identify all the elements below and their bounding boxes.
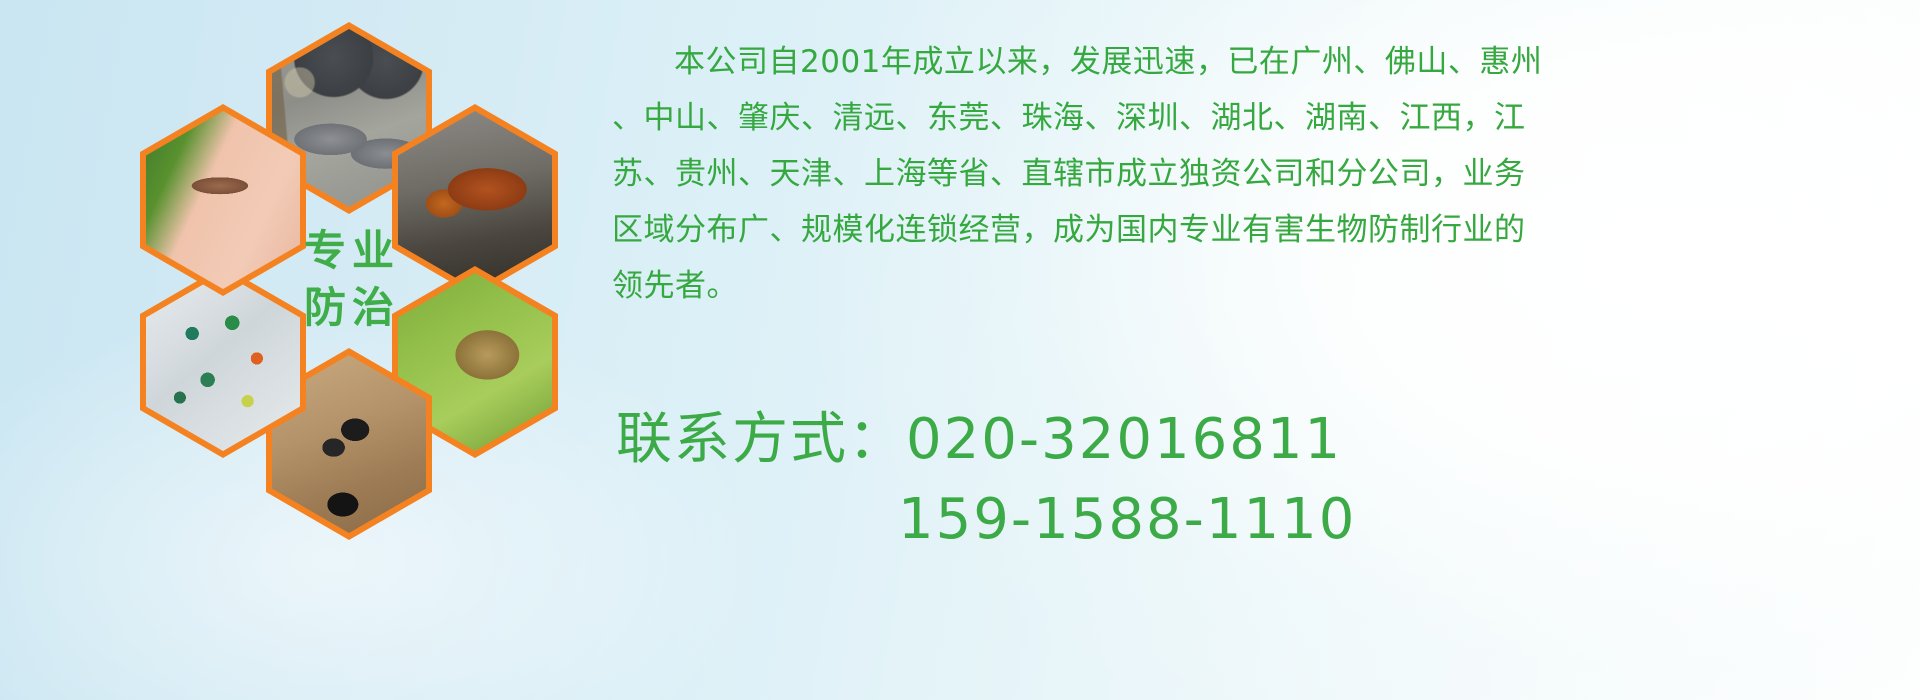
contact-landline-row: 联系方式：020-32016811 [616, 400, 1916, 480]
pest-control-banner: 专业 防治 本公司自2001年成立以来，发展迅速，已在广州、佛山、惠州 、中山、… [0, 0, 1920, 700]
contact-label: 联系方式： [616, 407, 906, 472]
intro-line-3: 苏、贵州、天津、上海等省、直辖市成立独资公司和分公司，业务 [612, 146, 1902, 202]
hex-inner: 专业 防治 [272, 191, 426, 369]
contact-mobile-row: 159-1588-1110 [616, 480, 1916, 560]
contact-block: 联系方式：020-32016811 159-1588-1110 [616, 400, 1916, 560]
intro-line-5: 领先者。 [612, 258, 1902, 314]
intro-paragraph: 本公司自2001年成立以来，发展迅速，已在广州、佛山、惠州 、中山、肇庆、清远、… [612, 34, 1902, 314]
honeycomb-gallery: 专业 防治 [92, 8, 592, 568]
phone-landline[interactable]: 020-32016811 [906, 407, 1342, 472]
intro-line-4: 区域分布广、规模化连锁经营，成为国内专业有害生物防制行业的 [612, 202, 1902, 258]
intro-line-2: 、中山、肇庆、清远、东莞、珠海、深圳、湖北、湖南、江西，江 [612, 90, 1902, 146]
company-intro: 本公司自2001年成立以来，发展迅速，已在广州、佛山、惠州 、中山、肇庆、清远、… [612, 34, 1902, 314]
slogan-text: 专业 防治 [272, 191, 426, 369]
intro-line-1: 本公司自2001年成立以来，发展迅速，已在广州、佛山、惠州 [612, 34, 1902, 90]
slogan-line-2: 防治 [298, 280, 400, 337]
slogan-line-1: 专业 [298, 223, 400, 280]
phone-mobile[interactable]: 159-1588-1110 [898, 487, 1356, 552]
